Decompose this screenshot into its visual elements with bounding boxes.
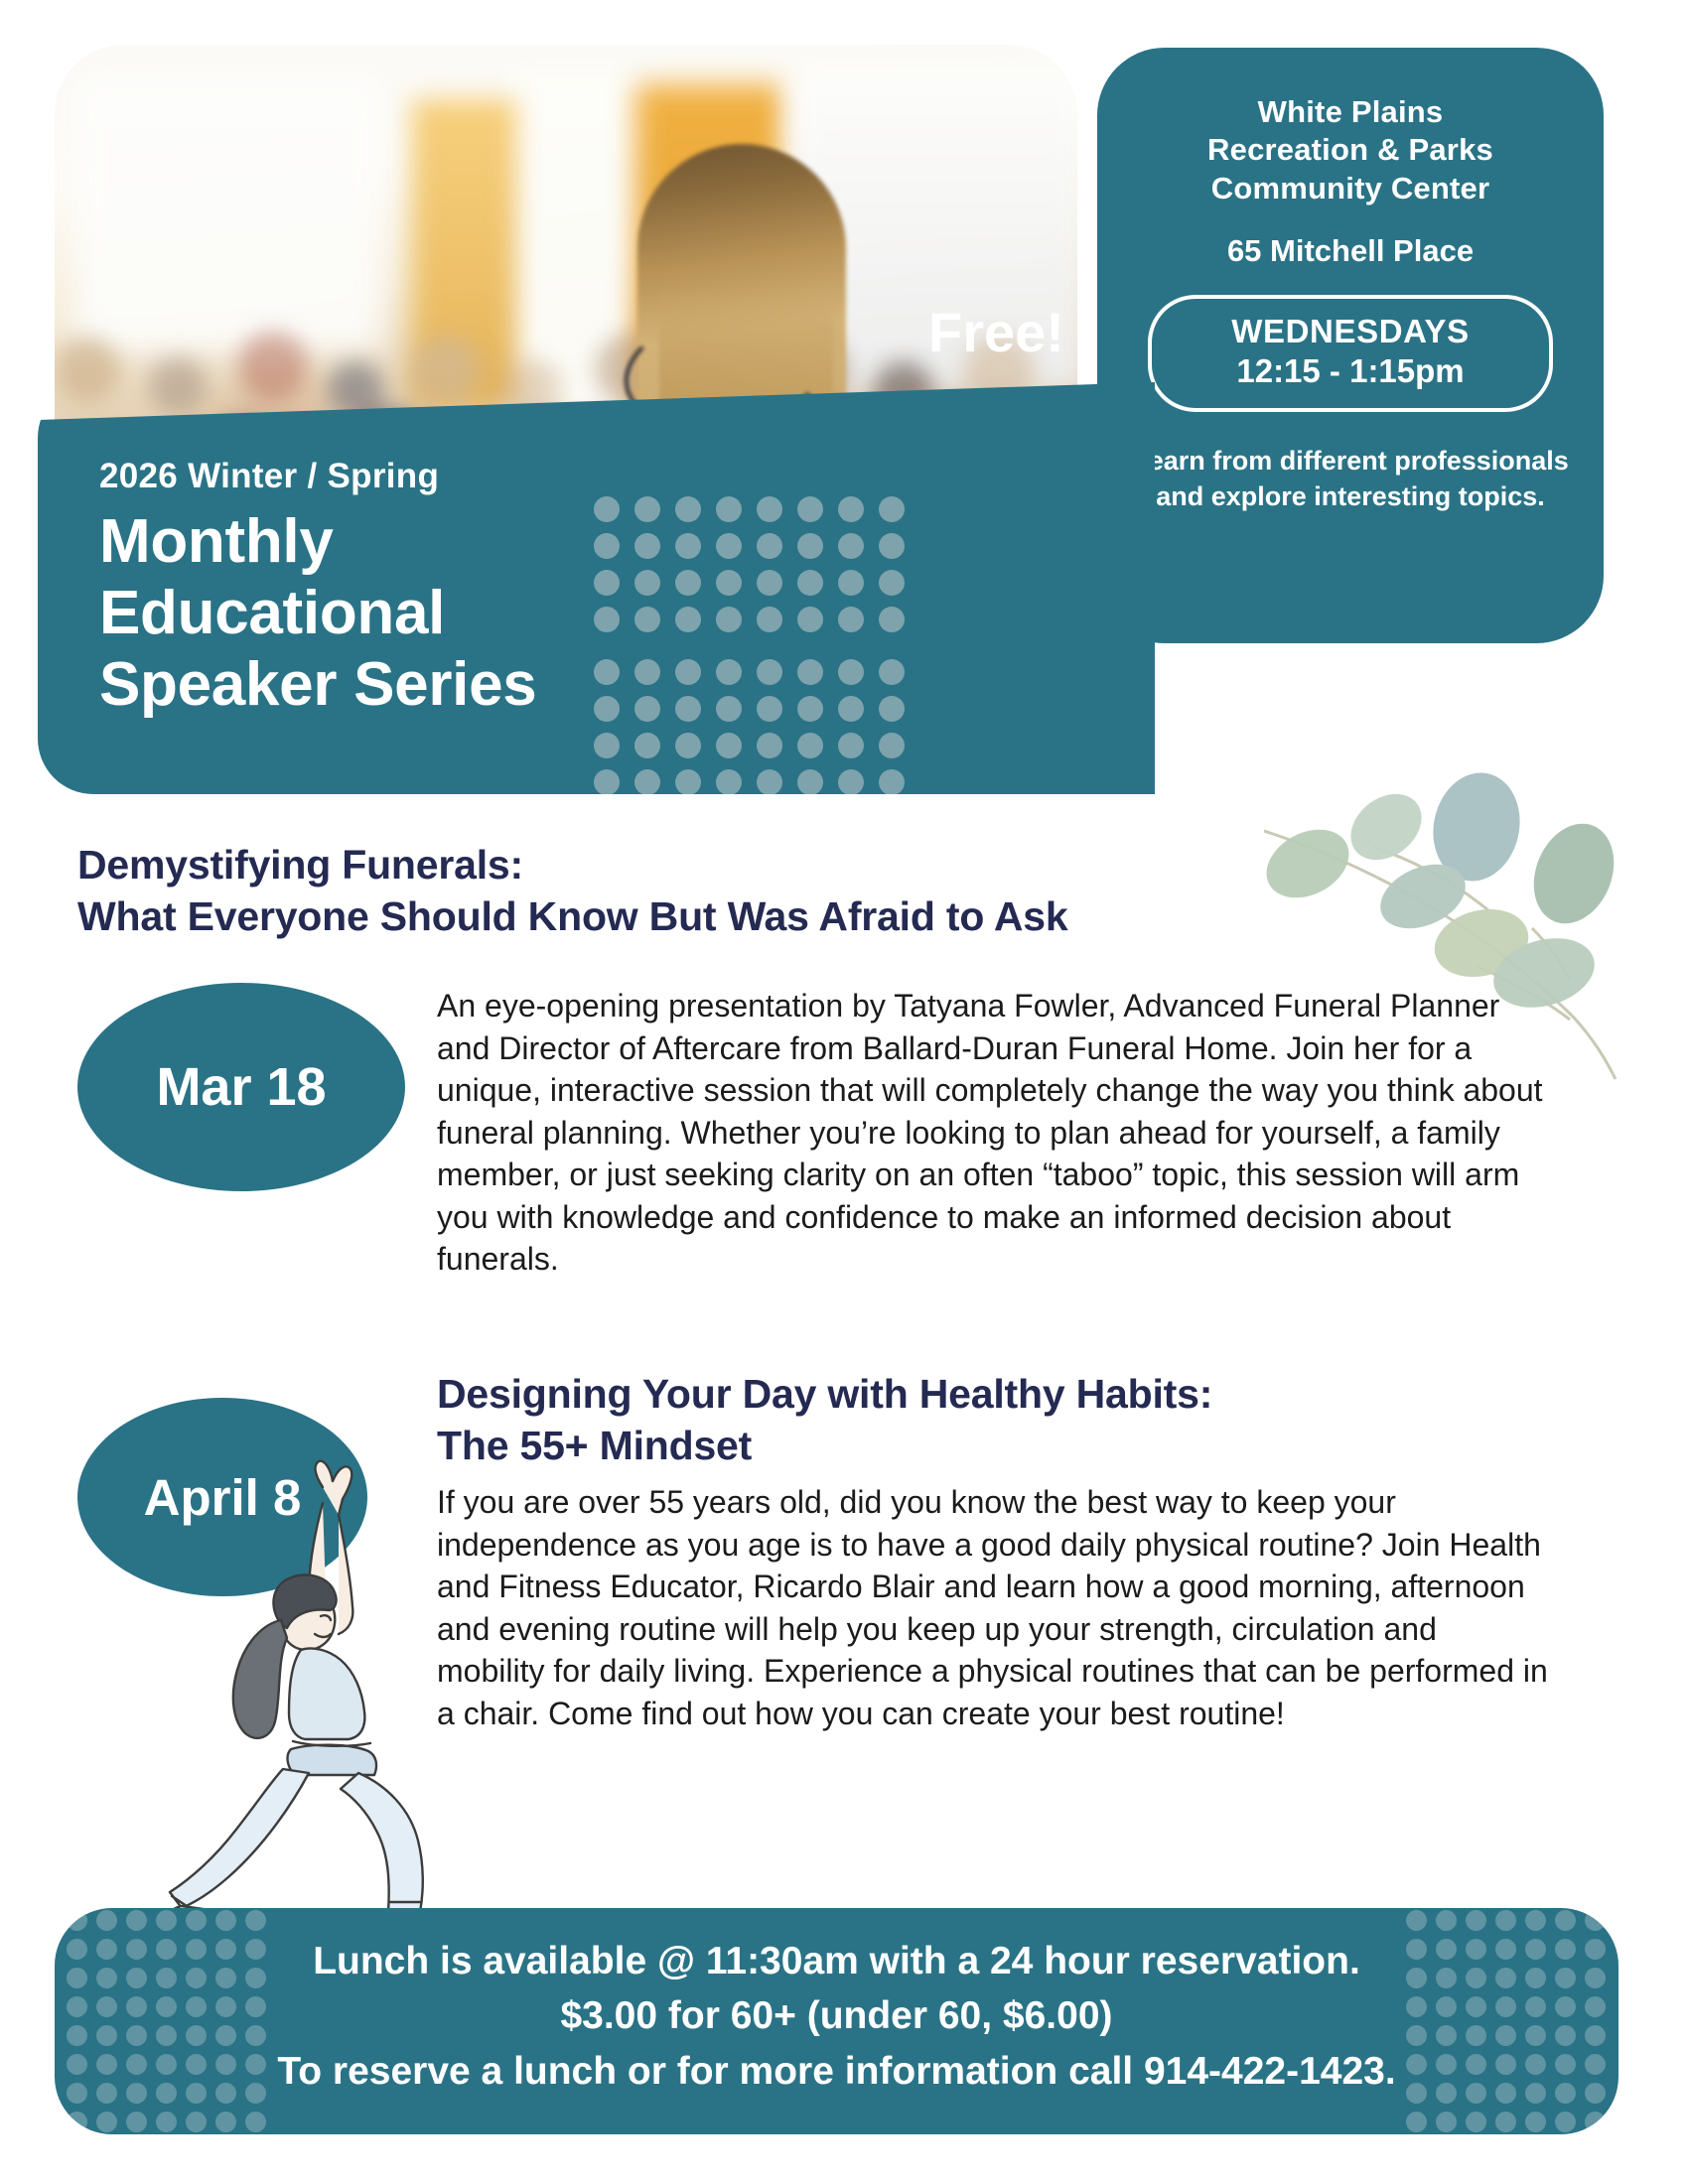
schedule-pill: WEDNESDAYS 12:15 - 1:15pm (1148, 295, 1553, 412)
footer-line-1: Lunch is available @ 11:30am with a 24 h… (55, 1934, 1618, 1988)
event-2-date-badge: April 8 (77, 1398, 367, 1596)
event-2-heading: Designing Your Day with Healthy Habits: … (437, 1368, 1529, 1472)
series-title-line-2: Educational (99, 578, 536, 649)
venue-info-panel: White Plains Recreation & Parks Communit… (1097, 48, 1604, 643)
decorative-dot-grid (594, 496, 921, 794)
venue-line-1: White Plains (1131, 93, 1570, 131)
footer-line-3: To reserve a lunch or for more informati… (55, 2044, 1618, 2099)
series-title: Monthly Educational Speaker Series (99, 506, 536, 721)
footer-line-2: $3.00 for 60+ (under 60, $6.00) (55, 1988, 1618, 2043)
venue-name: White Plains Recreation & Parks Communit… (1131, 93, 1570, 207)
event-1-heading: Demystifying Funerals: What Everyone Sho… (77, 839, 1329, 943)
season-label: 2026 Winter / Spring (99, 457, 536, 496)
event-2-description: If you are over 55 years old, did you kn… (437, 1481, 1549, 1734)
title-banner: 2026 Winter / Spring Monthly Educational… (38, 382, 1155, 794)
venue-line-2: Recreation & Parks (1131, 131, 1570, 169)
schedule-time: 12:15 - 1:15pm (1152, 352, 1549, 390)
series-title-line-1: Monthly (99, 506, 536, 578)
venue-address: 65 Mitchell Place (1131, 233, 1570, 269)
venue-line-3: Community Center (1131, 170, 1570, 207)
series-title-line-3: Speaker Series (99, 649, 536, 721)
footer-banner: Lunch is available @ 11:30am with a 24 h… (55, 1908, 1618, 2134)
schedule-day: WEDNESDAYS (1152, 313, 1549, 350)
event-1-description: An eye-opening presentation by Tatyana F… (437, 985, 1549, 1281)
event-1-date-badge: Mar 18 (77, 983, 405, 1191)
free-badge: Free! (928, 300, 1064, 364)
panel-tagline: Learn from different professionals and e… (1131, 444, 1570, 515)
banner-text-group: 2026 Winter / Spring Monthly Educational… (99, 457, 536, 721)
footer-text-group: Lunch is available @ 11:30am with a 24 h… (55, 1908, 1618, 2099)
